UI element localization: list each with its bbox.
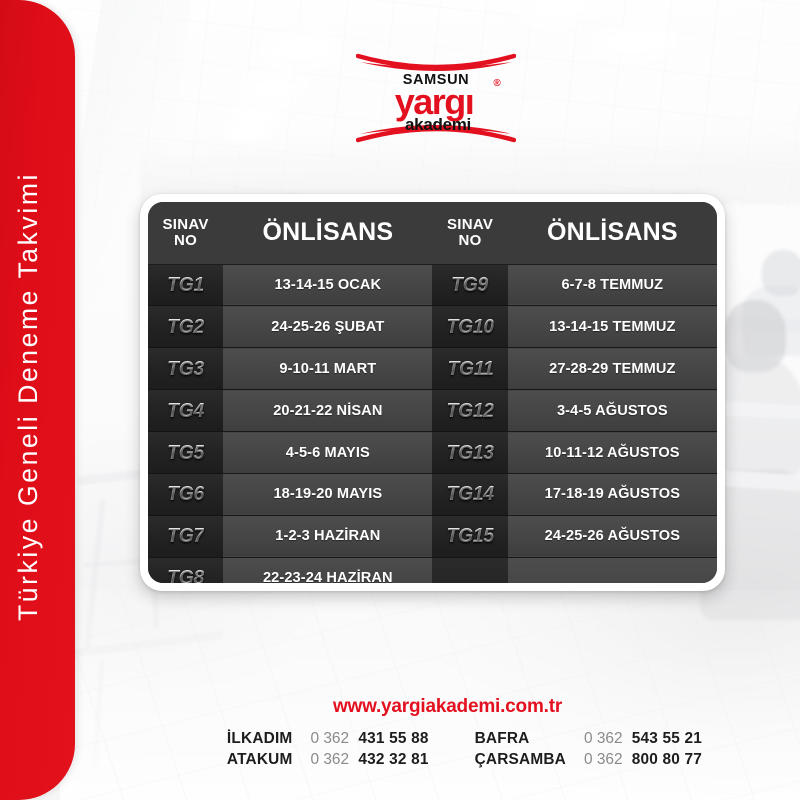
exam-no-right-cell: TG14 (432, 473, 507, 515)
date-left-cell: 1-2-3 HAZİRAN (223, 515, 432, 557)
exam-no-left-cell-label: TG6 (167, 482, 204, 506)
contact-area-code: 0 362 (311, 751, 359, 768)
logo-akademi-text: akademi (405, 115, 471, 134)
contact-area-code: 0 362 (584, 751, 632, 768)
exam-no-right-cell: TG11 (432, 348, 507, 390)
exam-no-right-cell-label: TG9 (452, 273, 489, 297)
exam-no-right-cell: TG13 (432, 432, 507, 474)
table-header: SINAV NO ÖNLİSANS SINAV NO ÖNLİSANS (148, 202, 717, 264)
date-right-cell (508, 557, 717, 583)
contact-row: ÇARSAMBA0 362 800 80 77 (475, 751, 702, 772)
header-exam-no-left: SINAV NO (148, 202, 223, 264)
date-right-cell: 27-28-29 TEMMUZ (508, 348, 717, 390)
exam-no-right-cell-label: TG14 (446, 482, 493, 506)
exam-no-left-cell-label: TG5 (167, 441, 204, 465)
date-left-cell: 4-5-6 MAYIS (223, 432, 432, 474)
contact-number: 543 55 21 (632, 730, 702, 747)
date-left-cell: 22-23-24 HAZİRAN (223, 557, 432, 583)
date-right-cell: 6-7-8 TEMMUZ (508, 264, 717, 306)
date-left-cell: 24-25-26 ŞUBAT (223, 306, 432, 348)
contact-phone[interactable]: 0 362 431 55 88 (311, 730, 429, 751)
contact-number: 800 80 77 (632, 751, 702, 768)
exam-no-left-cell: TG2 (148, 306, 223, 348)
table-row: TG420-21-22 NİSANTG123-4-5 AĞUSTOS (148, 390, 717, 432)
table-row: TG822-23-24 HAZİRAN (148, 557, 717, 583)
exam-no-right-cell-label: TG10 (446, 315, 493, 339)
table-row: TG54-5-6 MAYISTG1310-11-12 AĞUSTOS (148, 432, 717, 474)
red-sidebar: Türkiye Geneli Deneme Takvimi (0, 0, 75, 800)
contact-city: İLKADIM (227, 730, 311, 751)
header-program-left: ÖNLİSANS (223, 202, 432, 264)
exam-no-right-cell-label: TG13 (446, 441, 493, 465)
table-row: TG71-2-3 HAZİRANTG1524-25-26 AĞUSTOS (148, 515, 717, 557)
logo-svg: SAMSUN yargı ® akademi (356, 52, 516, 144)
contact-row: İLKADIM0 362 431 55 88 (227, 730, 429, 751)
exam-no-left-cell-label: TG2 (167, 315, 204, 339)
exam-no-right-cell: TG12 (432, 390, 507, 432)
exam-no-left-cell: TG8 (148, 557, 223, 583)
exam-no-left-cell: TG7 (148, 515, 223, 557)
contact-row: ATAKUM0 362 432 32 81 (227, 751, 429, 772)
exam-no-left-cell: TG5 (148, 432, 223, 474)
table-row: TG224-25-26 ŞUBATTG1013-14-15 TEMMUZ (148, 306, 717, 348)
exam-no-left-cell-label: TG8 (167, 566, 204, 583)
contacts-left: İLKADIM0 362 431 55 88ATAKUM0 362 432 32… (227, 730, 429, 772)
contact-area-code: 0 362 (311, 730, 359, 747)
contact-city: BAFRA (475, 730, 584, 751)
table-row: TG39-10-11 MARTTG1127-28-29 TEMMUZ (148, 348, 717, 390)
date-right-cell: 17-18-19 AĞUSTOS (508, 473, 717, 515)
schedule-table: SINAV NO ÖNLİSANS SINAV NO ÖNLİSANS TG11… (148, 202, 717, 583)
exam-no-left-cell: TG6 (148, 473, 223, 515)
exam-no-left-cell: TG4 (148, 390, 223, 432)
exam-no-left-cell: TG3 (148, 348, 223, 390)
exam-no-right-cell-label: TG11 (447, 357, 493, 381)
header-program-right: ÖNLİSANS (508, 202, 717, 264)
date-right-cell: 10-11-12 AĞUSTOS (508, 432, 717, 474)
header-exam-no-right: SINAV NO (432, 202, 507, 264)
vertical-title: Türkiye Geneli Deneme Takvimi (0, 0, 75, 707)
contact-area-code: 0 362 (584, 730, 632, 747)
exam-no-left-cell-label: TG7 (167, 524, 204, 548)
date-left-cell: 20-21-22 NİSAN (223, 390, 432, 432)
table-row: TG113-14-15 OCAKTG96-7-8 TEMMUZ (148, 264, 717, 306)
exam-no-right-cell-label: TG15 (446, 524, 493, 548)
exam-no-right-cell (432, 557, 507, 583)
exam-no-left-cell-label: TG3 (167, 357, 204, 381)
date-right-cell: 24-25-26 AĞUSTOS (508, 515, 717, 557)
date-right-cell: 3-4-5 AĞUSTOS (508, 390, 717, 432)
exam-no-right-cell: TG9 (432, 264, 507, 306)
contact-phone[interactable]: 0 362 432 32 81 (311, 751, 429, 772)
exam-no-right-cell: TG15 (432, 515, 507, 557)
date-left-cell: 13-14-15 OCAK (223, 264, 432, 306)
contact-phone[interactable]: 0 362 800 80 77 (584, 751, 702, 772)
table-body: TG113-14-15 OCAKTG96-7-8 TEMMUZTG224-25-… (148, 264, 717, 583)
poster: Türkiye Geneli Deneme Takvimi SAMSUN yar… (0, 0, 800, 800)
exam-no-left-cell-label: TG4 (167, 399, 204, 423)
contacts-right: BAFRA0 362 543 55 21ÇARSAMBA0 362 800 80… (475, 730, 702, 772)
exam-no-left-cell: TG1 (148, 264, 223, 306)
date-left-cell: 18-19-20 MAYIS (223, 473, 432, 515)
table-row: TG618-19-20 MAYISTG1417-18-19 AĞUSTOS (148, 473, 717, 515)
date-left-cell: 9-10-11 MART (223, 348, 432, 390)
contact-number: 432 32 81 (358, 751, 428, 768)
footer: www.yargiakademi.com.tr İLKADIM0 362 431… (95, 690, 800, 800)
contact-city: ATAKUM (227, 751, 311, 772)
header-row: SINAV NO ÖNLİSANS SINAV NO ÖNLİSANS (148, 202, 717, 264)
schedule-table-wrapper: SINAV NO ÖNLİSANS SINAV NO ÖNLİSANS TG11… (148, 202, 717, 583)
exam-no-right-cell-label: TG12 (446, 399, 493, 423)
contact-row: BAFRA0 362 543 55 21 (475, 730, 702, 751)
contact-number: 431 55 88 (358, 730, 428, 747)
schedule-card: SINAV NO ÖNLİSANS SINAV NO ÖNLİSANS TG11… (140, 194, 725, 591)
brand-logo: SAMSUN yargı ® akademi (356, 52, 516, 144)
exam-no-right-cell: TG10 (432, 306, 507, 348)
contact-list: İLKADIM0 362 431 55 88ATAKUM0 362 432 32… (193, 730, 702, 772)
date-right-cell: 13-14-15 TEMMUZ (508, 306, 717, 348)
contact-city: ÇARSAMBA (475, 751, 584, 772)
website-link[interactable]: www.yargiakademi.com.tr (333, 696, 562, 718)
contact-phone[interactable]: 0 362 543 55 21 (584, 730, 702, 751)
exam-no-left-cell-label: TG1 (167, 273, 204, 297)
registered-mark-icon: ® (493, 78, 501, 89)
